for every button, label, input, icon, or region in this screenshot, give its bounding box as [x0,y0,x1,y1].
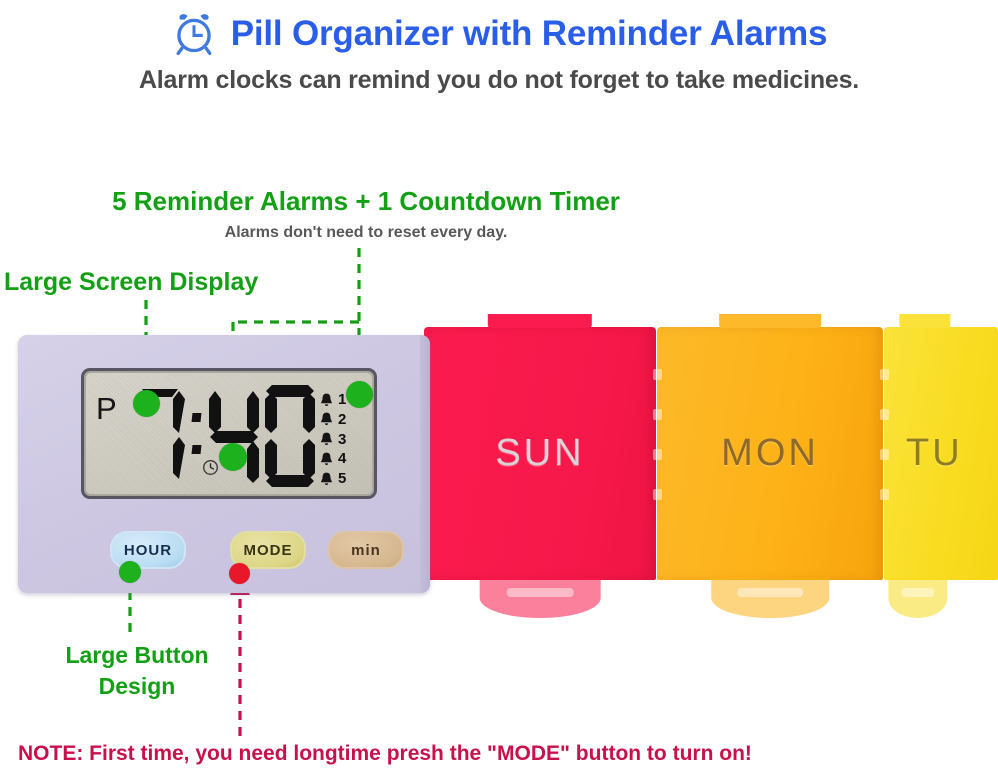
annotation-alarms-subline: Alarms don't need to reset every day. [86,224,646,242]
compartment-sun[interactable]: SUN [424,327,656,580]
compartment-sun-label: SUN [495,432,584,475]
bell-icon [318,451,335,467]
bell-icon [318,471,335,487]
compartment-tue-notch [880,449,889,460]
compartment-tue-notch [880,369,889,380]
alarm-indicator-3: 3 [318,431,364,448]
lcd-period-indicator: P [96,393,117,424]
device-right-edge [420,335,430,593]
lcd-time-display [132,381,318,489]
compartment-tue-label: TU [906,432,963,475]
page-subtitle: Alarm clocks can remind you do not forge… [0,66,998,95]
compartment-sun-latch [480,578,601,618]
compartment-mon-latch [711,578,829,618]
compartment-tue-latch [889,578,948,618]
annotation-button-design-line1: Large Button [42,640,232,671]
alarm-indicator-4-number: 4 [338,451,346,466]
marker-dot-mode-button [229,563,250,584]
compartment-mon-tab [719,314,821,328]
alarm-indicator-5-number: 5 [338,471,346,486]
marker-dot-screen-display [133,390,160,417]
page-title: Pill Organizer with Reminder Alarms [231,14,828,54]
infographic-canvas: Pill Organizer with Reminder Alarms Alar… [0,0,998,780]
compartment-mon-notch [653,369,662,380]
bell-icon [318,392,335,408]
compartment-mon-notch [653,489,662,500]
bell-icon [318,431,335,447]
compartment-mon-label: MON [721,432,819,475]
lcd-screen: P [81,368,377,499]
compartment-mon-notch [653,449,662,460]
annotation-note: NOTE: First time, you need longtime pres… [18,742,752,766]
compartment-sun-tab [488,314,592,328]
lcd-digit-ones [262,383,318,487]
marker-dot-hour-button [119,561,141,583]
alarm-indicator-2-number: 2 [338,412,346,427]
compartment-tue-notch [880,489,889,500]
alarm-indicator-3-number: 3 [338,432,346,447]
countdown-timer-icon [202,459,219,476]
alarm-indicator-5: 5 [318,470,364,487]
min-button[interactable]: min [328,531,404,569]
annotation-button-design: Large Button Design [42,640,232,702]
alarm-clock-icon [171,11,217,57]
annotation-screen-display: Large Screen Display [4,268,258,297]
marker-dot-countdown-timer [219,443,247,471]
alarm-indicator-4: 4 [318,450,364,467]
lcd-surface: P [86,373,372,494]
compartment-mon[interactable]: MON [657,327,883,580]
compartment-tue-notch [880,409,889,420]
marker-dot-alarm-indicators [346,381,373,408]
header: Pill Organizer with Reminder Alarms [0,6,998,62]
compartment-tue[interactable]: TU [884,327,998,580]
compartment-tue-tab [899,314,950,328]
annotation-alarms-headline: 5 Reminder Alarms + 1 Countdown Timer [86,186,646,217]
bell-icon [318,411,335,427]
alarm-indicator-2: 2 [318,411,364,428]
annotation-button-design-line2: Design [42,671,232,702]
compartment-mon-notch [653,409,662,420]
